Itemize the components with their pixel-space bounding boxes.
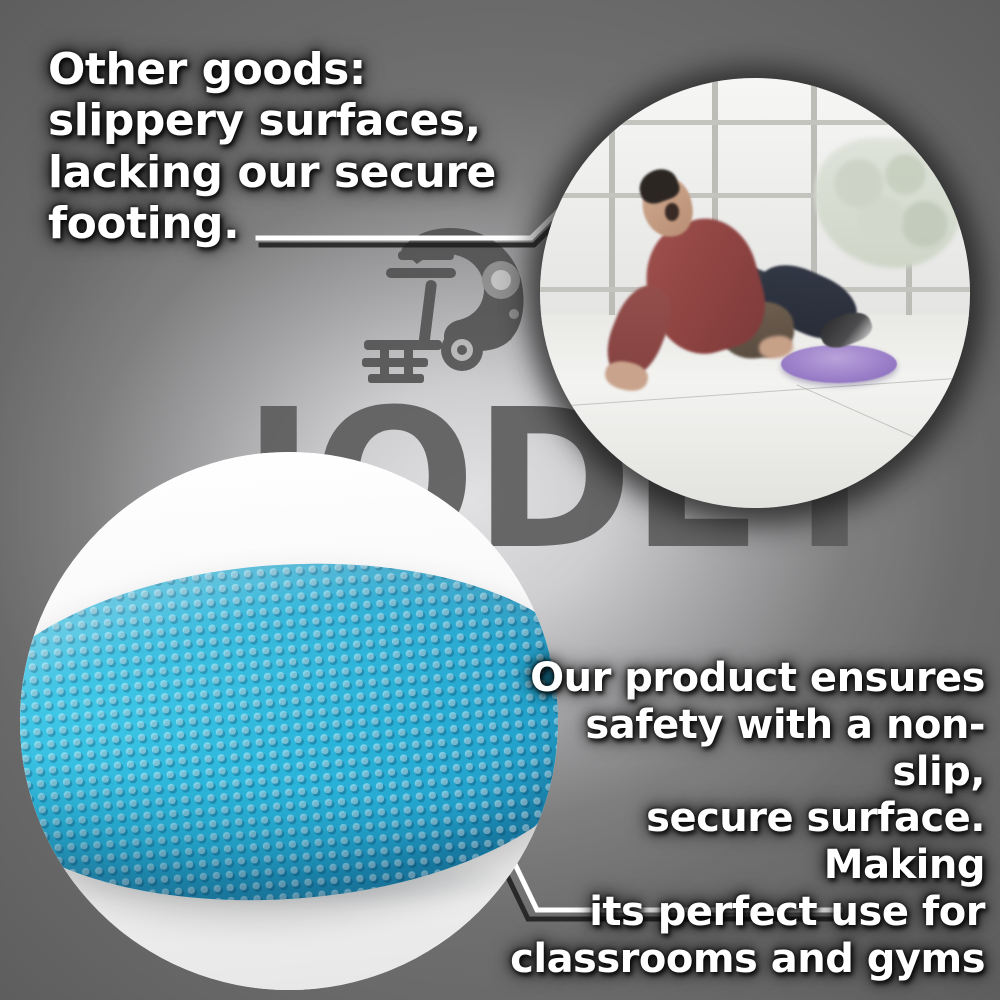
infographic-canvas: JODEY othe	[0, 0, 1000, 1000]
slip-accident-photo	[540, 78, 970, 508]
problem-headline: Other goods: slippery surfaces, lacking …	[48, 44, 518, 250]
solution-headline: Our product ensures safety with a non-sl…	[505, 655, 985, 983]
slip-accident-scene	[540, 78, 970, 508]
purple-slip-disc	[781, 345, 897, 384]
window-foliage	[815, 138, 961, 268]
product-photo	[20, 452, 558, 990]
